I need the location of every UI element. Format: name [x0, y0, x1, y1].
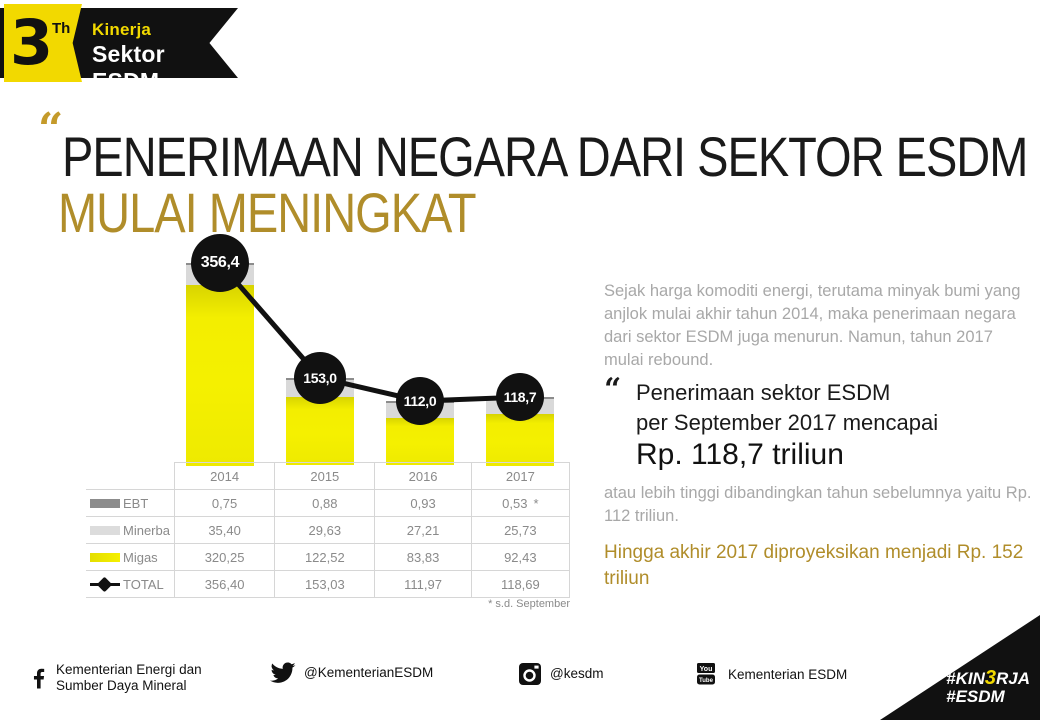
- hashtag-part-a: #KIN: [946, 669, 985, 688]
- stacked-bar-chart: 356,4153,0112,0118,7: [86, 250, 572, 464]
- total-line-swatch: [90, 579, 120, 590]
- cell-minerba-2014: 35,40: [174, 517, 274, 544]
- table-row-legend-total: TOTAL: [86, 571, 174, 598]
- panel-quote-icon: “: [604, 375, 621, 405]
- table-row-legend-ebt: EBT: [86, 490, 174, 517]
- hashtag-line2: #ESDM: [946, 687, 1005, 706]
- table-col-header-2014: 2014: [174, 463, 274, 490]
- right-text-panel: Sejak harga komoditi energi, terutama mi…: [604, 280, 1034, 372]
- svg-text:You: You: [700, 666, 713, 673]
- table-col-header-2016: 2016: [375, 463, 471, 490]
- table-header-row: 2014201520162017: [86, 463, 570, 490]
- table-row-legend-migas: Migas: [86, 544, 174, 571]
- table-body: EBT0,750,880,930,53*Minerba35,4029,6327,…: [86, 490, 570, 598]
- legend-label-total: TOTAL: [123, 577, 164, 592]
- asterisk-marker: *: [533, 496, 538, 511]
- headline-amount: Rp. 118,7 triliun: [636, 438, 844, 472]
- cell-migas-2015: 122,52: [275, 544, 375, 571]
- cell-total-2016: 111,97: [375, 571, 471, 598]
- intro-paragraph: Sejak harga komoditi energi, terutama mi…: [604, 280, 1034, 372]
- cell-minerba-2016: 27,21: [375, 517, 471, 544]
- data-label-2015: 153,0: [294, 352, 346, 404]
- twitter-icon: [270, 662, 296, 684]
- page-title-line2: MULAI MENINGKAT: [58, 180, 476, 245]
- infographic-page: 3 Th Kinerja Sektor ESDM “ PENERIMAAN NE…: [0, 0, 1040, 720]
- cell-migas-2016: 83,83: [375, 544, 471, 571]
- highlight-text: Penerimaan sektor ESDM per September 201…: [636, 378, 1036, 438]
- cell-ebt-2017: 0,53*: [471, 490, 569, 517]
- banner-title-line2: Sektor ESDM: [92, 41, 238, 95]
- table-row: TOTAL356,40153,03111,97118,69: [86, 571, 570, 598]
- cell-ebt-2014: 0,75: [174, 490, 274, 517]
- legend-label-ebt: EBT: [123, 496, 148, 511]
- headline-quote-icon: “: [38, 110, 63, 150]
- hashtag-part-c: RJA: [996, 669, 1030, 688]
- cell-minerba-2015: 29,63: [275, 517, 375, 544]
- campaign-hashtag: #KIN3RJA #ESDM: [946, 669, 1030, 706]
- minerba-swatch: [90, 526, 120, 535]
- facebook-icon: [28, 667, 48, 689]
- cell-minerba-2017: 25,73: [471, 517, 569, 544]
- social-instagram-label: @kesdm: [550, 666, 603, 682]
- table-col-header-2015: 2015: [275, 463, 375, 490]
- migas-swatch: [90, 553, 120, 562]
- total-line-path: [220, 263, 520, 401]
- legend-label-migas: Migas: [123, 550, 158, 565]
- instagram-icon: [518, 662, 542, 686]
- table-head: 2014201520162017: [86, 463, 570, 490]
- banner-title-line1: Kinerja: [92, 20, 151, 40]
- table-row: EBT0,750,880,930,53*: [86, 490, 570, 517]
- cell-migas-2017: 92,43: [471, 544, 569, 571]
- social-youtube[interactable]: You Tube Kementerian ESDM: [694, 662, 847, 688]
- cell-migas-2014: 320,25: [174, 544, 274, 571]
- data-label-2014: 356,4: [191, 234, 249, 292]
- svg-text:Tube: Tube: [699, 678, 714, 684]
- table-col-header-2017: 2017: [471, 463, 569, 490]
- banner-anniversary-number: 3: [10, 6, 53, 80]
- cell-ebt-2016: 0,93: [375, 490, 471, 517]
- social-facebook-label: Kementerian Energi dan Sumber Daya Miner…: [56, 662, 202, 694]
- banner-ordinal-suffix: Th: [52, 20, 70, 37]
- table-footnote: * s.d. September: [380, 598, 570, 610]
- youtube-icon: You Tube: [694, 662, 720, 688]
- cell-total-2014: 356,40: [174, 571, 274, 598]
- data-label-2016: 112,0: [396, 377, 444, 425]
- social-twitter-label: @KementerianESDM: [304, 665, 433, 681]
- social-facebook[interactable]: Kementerian Energi dan Sumber Daya Miner…: [28, 662, 202, 694]
- highlight-line1: Penerimaan sektor ESDM: [636, 380, 890, 405]
- footer-bar: Kementerian Energi dan Sumber Daya Miner…: [0, 648, 1040, 720]
- table-row: Minerba35,4029,6327,2125,73: [86, 517, 570, 544]
- cell-total-2015: 153,03: [275, 571, 375, 598]
- hashtag-number: 3: [985, 667, 996, 689]
- legend-label-minerba: Minerba: [123, 523, 170, 538]
- highlight-line2: per September 2017 mencapai: [636, 410, 938, 435]
- data-label-2017: 118,7: [496, 373, 544, 421]
- table-row-legend-minerba: Minerba: [86, 517, 174, 544]
- ebt-swatch: [90, 499, 120, 508]
- projection-paragraph: Hingga akhir 2017 diproyeksikan menjadi …: [604, 540, 1034, 592]
- data-table: 2014201520162017 EBT0,750,880,930,53*Min…: [86, 462, 570, 598]
- table-row: Migas320,25122,5283,8392,43: [86, 544, 570, 571]
- social-youtube-label: Kementerian ESDM: [728, 667, 847, 683]
- cell-total-2017: 118,69: [471, 571, 569, 598]
- comparison-paragraph: atau lebih tinggi dibandingkan tahun seb…: [604, 482, 1034, 528]
- social-twitter[interactable]: @KementerianESDM: [270, 662, 433, 684]
- cell-ebt-2015: 0,88: [275, 490, 375, 517]
- social-instagram[interactable]: @kesdm: [518, 662, 603, 686]
- table-corner-cell: [86, 463, 174, 490]
- header-banner: 3 Th Kinerja Sektor ESDM: [0, 8, 238, 78]
